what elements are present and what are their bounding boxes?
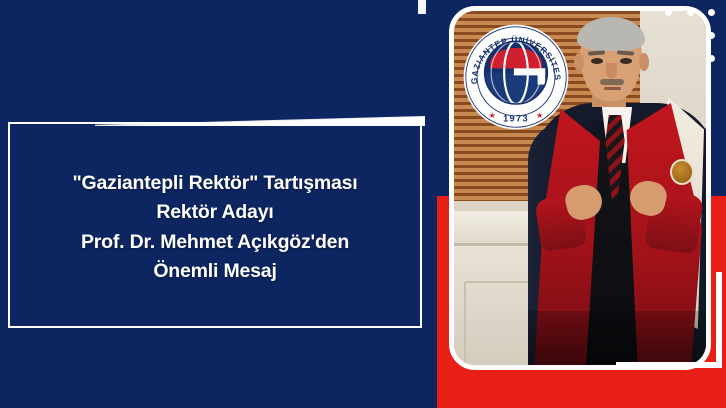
ear-left: [574, 53, 584, 71]
hair: [577, 17, 645, 51]
corner-accent: [616, 272, 722, 368]
white-top-strip: [418, 0, 426, 14]
headline-frame: [8, 122, 422, 328]
lapel-medal: [670, 159, 694, 185]
decor-dot: [665, 9, 672, 16]
ear-right: [639, 53, 649, 71]
logo-year: 1973: [503, 113, 529, 123]
eye-right: [620, 58, 632, 64]
gaziantep-university-logo-icon: GAZIANTEP ÜNİVERSİTESİ 1973 ★ ★: [462, 23, 570, 131]
mustache: [600, 79, 624, 85]
decor-dot: [708, 55, 715, 62]
decor-dot: [708, 9, 715, 16]
logo-star-right: ★: [536, 111, 543, 120]
logo-star-left: ★: [489, 111, 496, 120]
decor-dot: [708, 32, 715, 39]
decor-dot: [687, 9, 694, 16]
nose: [606, 63, 617, 79]
mouth: [604, 87, 621, 90]
eye-left: [591, 58, 603, 64]
news-banner: "Gaziantepli Rektör" Tartışması Rektör A…: [0, 0, 726, 408]
